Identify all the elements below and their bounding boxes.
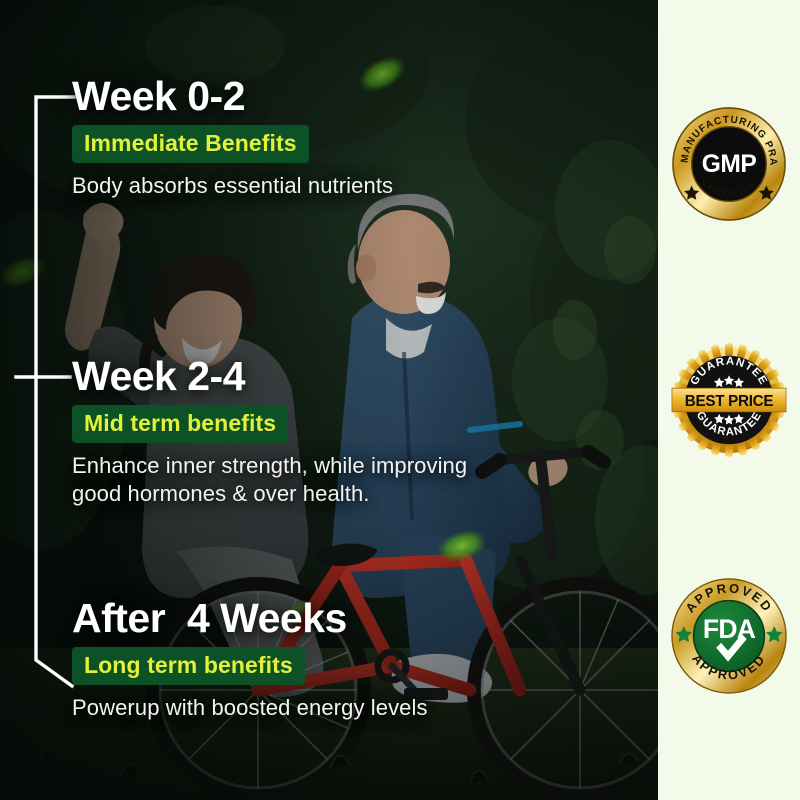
gmp-certified-seal-icon: GOOD MANUFACTURING PRACTICE CERTIFIED GM… — [670, 105, 788, 223]
step-1-description: Body absorbs essential nutrients — [72, 172, 393, 201]
fda-center-label: FDA — [703, 614, 756, 644]
gmp-center-label: GMP — [702, 151, 757, 178]
best-price-guarantee-seal-icon: GUARANTEE GUARANTEE BEST PRICE — [670, 341, 788, 459]
step-1-pill: Immediate Benefits — [72, 125, 309, 163]
infographic-root: Week 0-2 Immediate Benefits Body absorbs… — [0, 0, 800, 800]
fda-approved-seal-icon: APPROVED APPROVED FDA — [670, 577, 788, 695]
step-2-heading: Week 2-4 — [72, 356, 492, 398]
best-price-center-label: BEST PRICE — [685, 393, 774, 410]
step-1-heading: Week 0-2 — [72, 76, 393, 118]
timeline-step-1: Week 0-2 Immediate Benefits Body absorbs… — [72, 76, 393, 200]
step-3-heading: After 4 Weeks — [72, 598, 428, 640]
timeline-step-2: Week 2-4 Mid term benefits Enhance inner… — [72, 356, 492, 509]
step-2-description: Enhance inner strength, while improving … — [72, 452, 492, 509]
step-2-pill: Mid term benefits — [72, 405, 288, 443]
step-3-pill: Long term benefits — [72, 647, 305, 685]
trust-badge-rail: GOOD MANUFACTURING PRACTICE CERTIFIED GM… — [658, 0, 800, 800]
step-3-description: Powerup with boosted energy levels — [72, 694, 428, 723]
timeline-step-3: After 4 Weeks Long term benefits Powerup… — [72, 598, 428, 722]
